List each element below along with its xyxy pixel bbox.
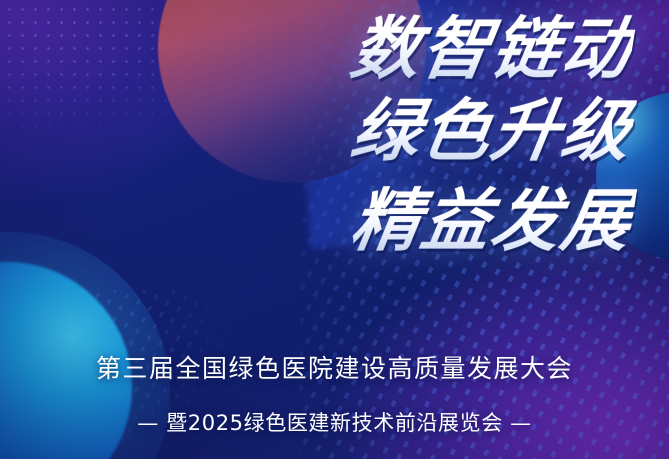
headline-line-3: 精益发展: [0, 178, 639, 266]
poster-headline: 数智链动 绿色升级 精益发展: [0, 0, 669, 266]
headline-line-2: 绿色升级: [0, 88, 639, 176]
conference-title: 第三届全国绿色医院建设高质量发展大会: [0, 352, 669, 386]
poster-subtitle-block: 第三届全国绿色医院建设高质量发展大会 — 暨2025绿色医建新技术前沿展览会 —: [0, 352, 669, 438]
exhibition-subtitle: — 暨2025绿色医建新技术前沿展览会 —: [0, 408, 669, 438]
headline-line-1: 数智链动: [0, 6, 639, 94]
conference-poster: 数智链动 绿色升级 精益发展 第三届全国绿色医院建设高质量发展大会 — 暨202…: [0, 0, 669, 459]
